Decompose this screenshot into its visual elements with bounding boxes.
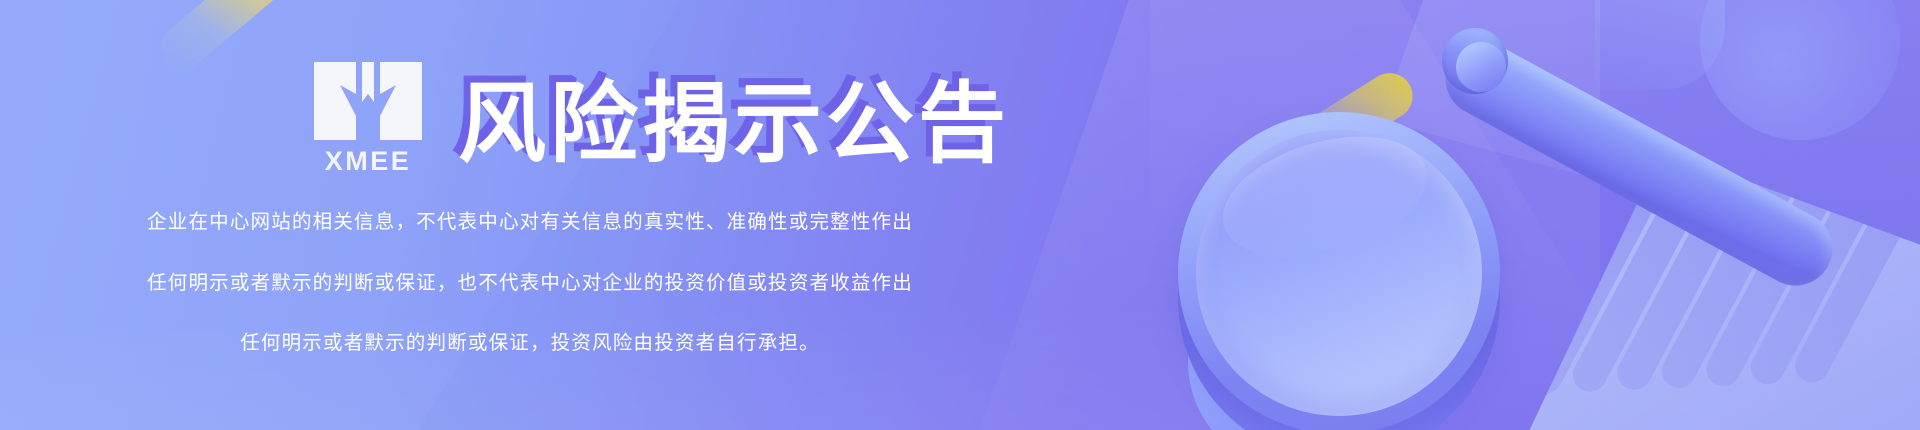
page-title: 风险揭示公告 <box>458 80 1010 172</box>
disclaimer-line: 任何明示或者默示的判断或保证，投资风险由投资者自行承担。 <box>0 333 1060 353</box>
banner-content: XMEE 风险揭示公告 企业在中心网站的相关信息，不代表中心对有关信息的真实性、… <box>0 0 1920 430</box>
banner-header-row: XMEE 风险揭示公告 <box>312 60 1010 172</box>
disclaimer-text: 企业在中心网站的相关信息，不代表中心对有关信息的真实性、准确性或完整性作出 任何… <box>0 212 1060 353</box>
xmee-crown-logo-icon: XMEE <box>312 60 424 172</box>
xmee-wordmark: XMEE <box>312 148 424 175</box>
disclaimer-line: 任何明示或者默示的判断或保证，也不代表中心对企业的投资价值或投资者收益作出 <box>0 273 1060 293</box>
risk-disclosure-banner: XMEE 风险揭示公告 企业在中心网站的相关信息，不代表中心对有关信息的真实性、… <box>0 0 1920 430</box>
disclaimer-line: 企业在中心网站的相关信息，不代表中心对有关信息的真实性、准确性或完整性作出 <box>0 212 1060 232</box>
